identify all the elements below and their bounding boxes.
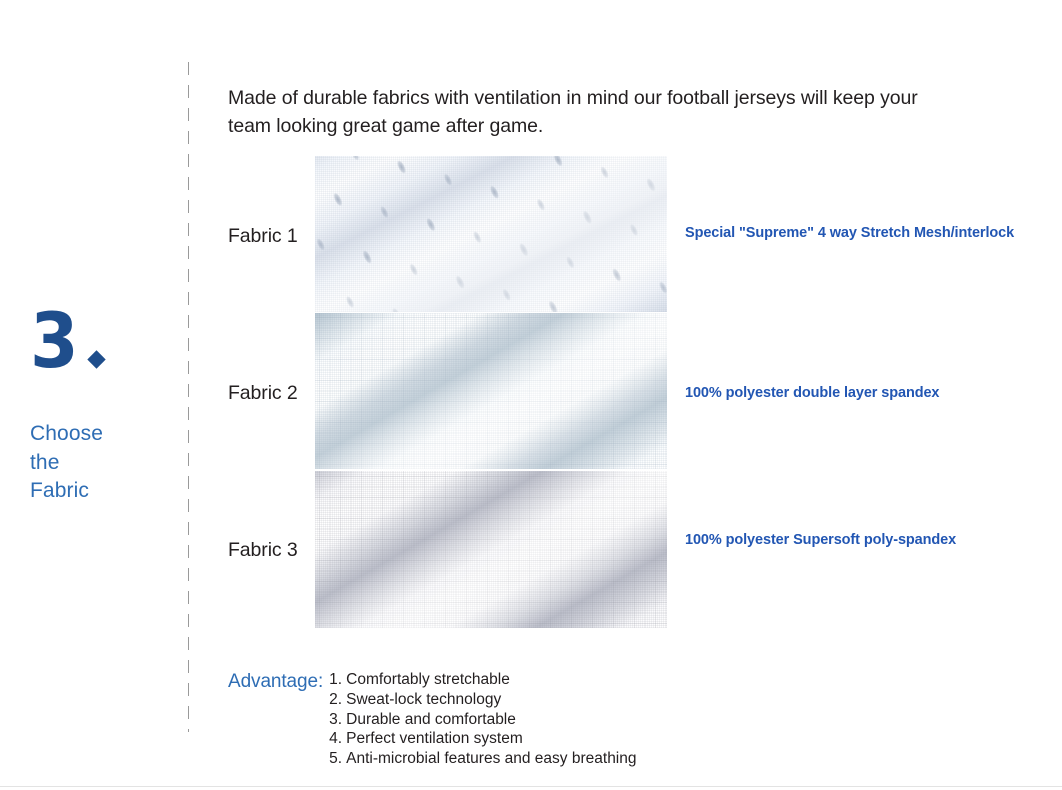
step-number-wrap: 3 [30, 292, 180, 372]
fabric-texture-sheen [315, 471, 667, 628]
intro-paragraph: Made of durable fabrics with ventilation… [228, 84, 928, 141]
fabric-swatch-1[interactable] [315, 156, 667, 312]
fabric-texture-sheen [315, 313, 667, 469]
fabric-description: Special "Supreme" 4 way Stretch Mesh/int… [685, 225, 1014, 241]
fabric-description: 100% polyester double layer spandex [685, 385, 939, 401]
advantage-block: Advantage: 1.Comfortably stretchable 2.S… [228, 670, 637, 769]
fabric-row: Fabric 3 100% polyester Supersoft poly-s… [228, 471, 1062, 629]
list-item-text: Comfortably stretchable [346, 671, 510, 688]
fabric-row: Fabric 1 Special "Supreme" 4 way Stretch… [228, 156, 1062, 313]
bottom-divider [0, 786, 1062, 787]
list-item-number: 2. [329, 690, 346, 710]
list-item: 4.Perfect ventilation system [329, 729, 636, 749]
list-item-text: Sweat-lock technology [346, 691, 501, 708]
step-column: 3 Choose the Fabric [30, 292, 180, 506]
step-number: 3 [30, 310, 77, 372]
list-item-number: 4. [329, 729, 346, 749]
fabric-swatch-2[interactable] [315, 313, 667, 469]
list-item: 2.Sweat-lock technology [329, 690, 636, 710]
list-item-text: Anti-microbial features and easy breathi… [346, 750, 636, 767]
fabric-label: Fabric 1 [228, 225, 318, 248]
list-item: 3.Durable and comfortable [329, 710, 636, 730]
list-item-text: Durable and comfortable [346, 711, 516, 728]
step-title: Choose the Fabric [30, 420, 180, 506]
list-item-number: 3. [329, 710, 346, 730]
advantage-list: 1.Comfortably stretchable 2.Sweat-lock t… [323, 670, 636, 769]
list-item-text: Perfect ventilation system [346, 730, 523, 747]
fabric-texture-sheen [315, 156, 667, 312]
fabric-label: Fabric 2 [228, 382, 318, 405]
fabric-swatch-3[interactable] [315, 471, 667, 628]
diamond-period-icon [87, 350, 105, 368]
vertical-dashed-divider [188, 62, 189, 732]
list-item: 5.Anti-microbial features and easy breat… [329, 749, 636, 769]
fabric-row: Fabric 2 100% polyester double layer spa… [228, 313, 1062, 470]
advantage-label: Advantage: [228, 670, 323, 693]
list-item-number: 1. [329, 670, 346, 690]
list-item: 1.Comfortably stretchable [329, 670, 636, 690]
fabric-description: 100% polyester Supersoft poly-spandex [685, 532, 956, 548]
list-item-number: 5. [329, 749, 346, 769]
fabric-label: Fabric 3 [228, 539, 318, 562]
